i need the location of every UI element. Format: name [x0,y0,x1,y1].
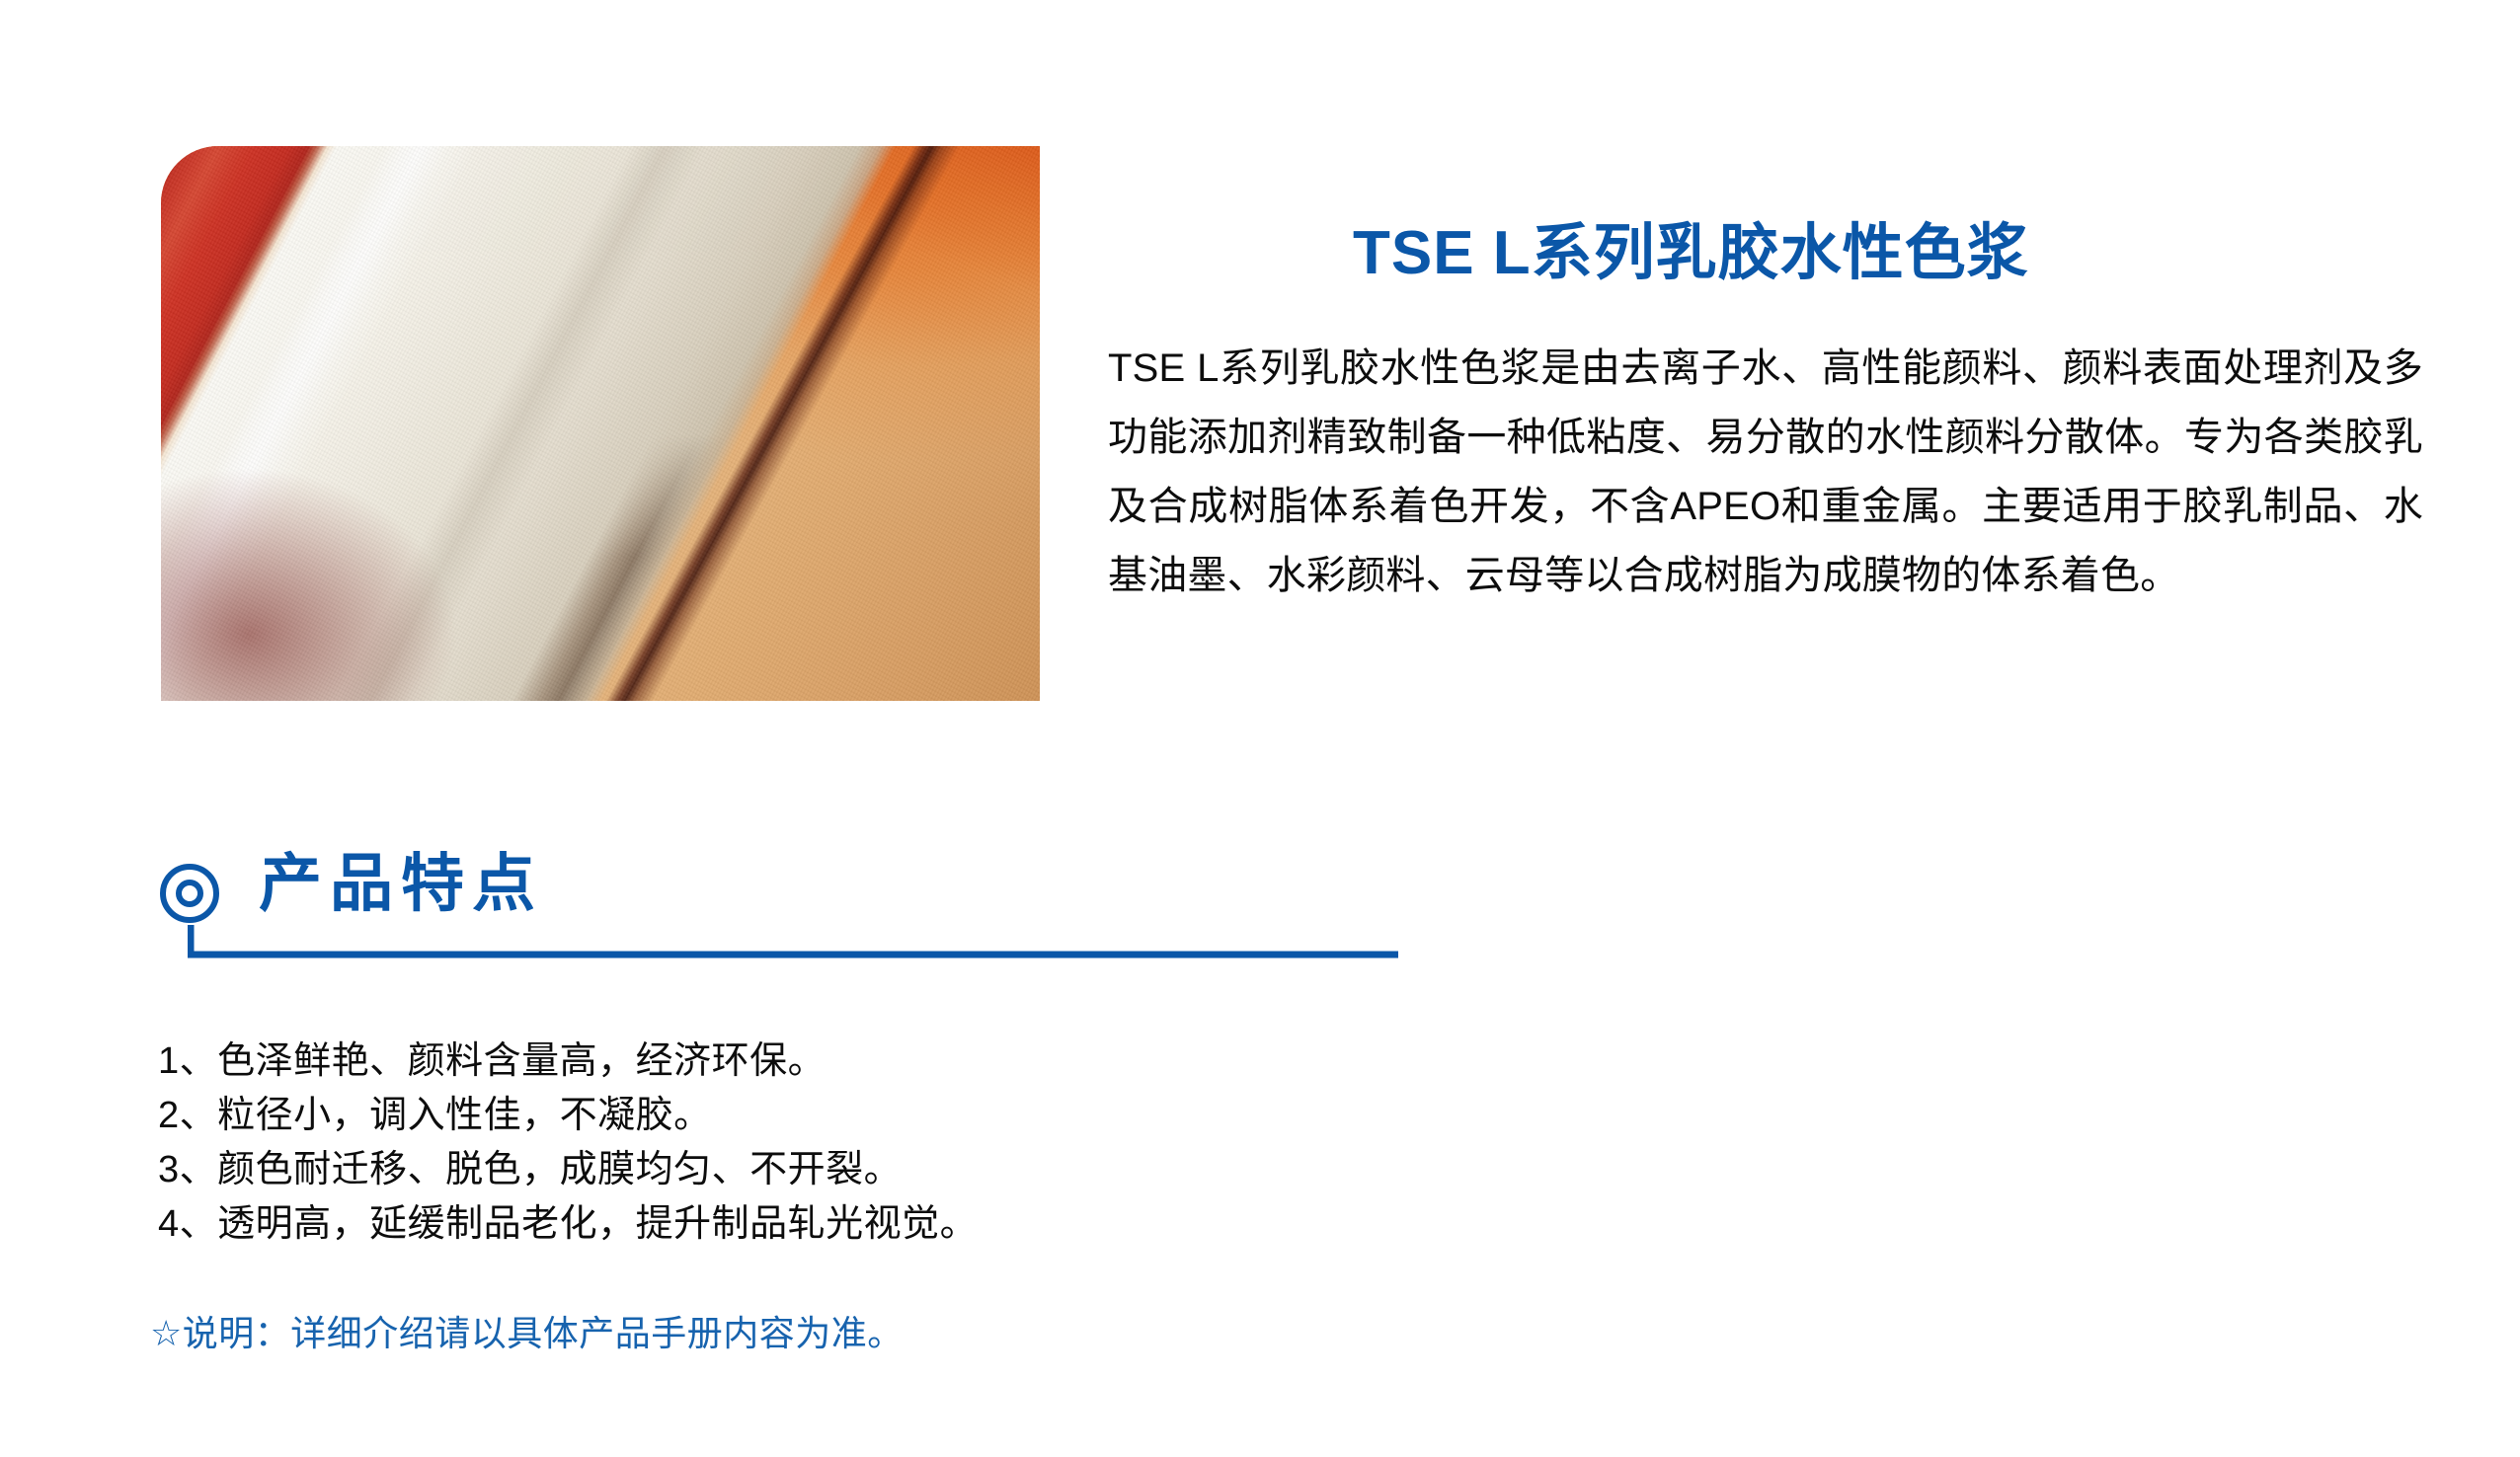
footnote-disclaimer: ☆说明：详细介绍请以具体产品手册内容为准。 [150,1308,904,1359]
target-circle-icon [158,862,221,925]
list-item: 3、颜色耐迁移、脱色，成膜均匀、不开裂。 [158,1143,1738,1197]
product-photo [161,146,1040,701]
list-item: 4、透明高，延缓制品老化，提升制品轧光视觉。 [158,1197,1738,1252]
section-title: 产品特点 [259,844,543,923]
list-item: 1、色泽鲜艳、颜料含量高，经济环保。 [158,1035,1738,1089]
photo-layer-leather-grain [161,146,1040,701]
product-page: TSE L系列乳胶水性色浆 TSE L系列乳胶水性色浆是由去离子水、高性能颜料、… [0,0,2520,1457]
feature-list: 1、色泽鲜艳、颜料含量高，经济环保。 2、粒径小，调入性佳，不凝胶。 3、颜色耐… [158,1035,1738,1252]
section-product-features: 产品特点 [158,844,1442,972]
list-item: 2、粒径小，调入性佳，不凝胶。 [158,1089,1738,1143]
section-underline [188,925,1398,964]
product-description: TSE L系列乳胶水性色浆是由去离子水、高性能颜料、颜料表面处理剂及多功能添加剂… [1108,334,2423,610]
page-title: TSE L系列乳胶水性色浆 [1353,202,2029,291]
